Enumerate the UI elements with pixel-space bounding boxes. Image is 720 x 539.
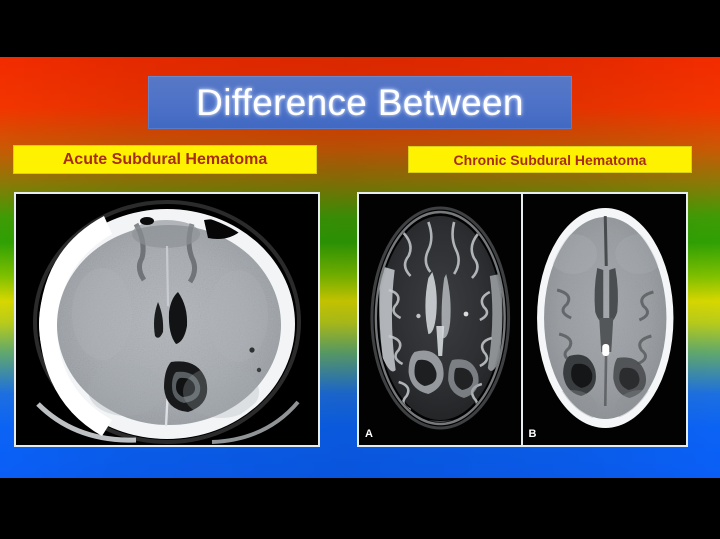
caption-right-label: Chronic Subdural Hematoma <box>454 152 647 168</box>
axial-mri-flair-image <box>359 194 521 445</box>
axial-ct-brain-image <box>523 194 687 445</box>
acute-subdural-ct-image <box>16 194 318 445</box>
caption-left-label: Acute Subdural Hematoma <box>63 151 267 169</box>
title-band: Difference Between <box>148 76 572 129</box>
image-panel-chronic: A <box>357 192 688 447</box>
chronic-sub-image-a: A <box>359 194 523 445</box>
slide-canvas: Difference Between Acute Subdural Hemato… <box>0 0 720 539</box>
page-title: Difference Between <box>196 84 524 121</box>
sub-image-label-b: B <box>529 428 537 440</box>
bottom-letterbox-bar <box>0 478 720 539</box>
chronic-sub-image-b: B <box>523 194 687 445</box>
sub-image-label-a: A <box>365 428 373 440</box>
caption-acute-subdural-hematoma: Acute Subdural Hematoma <box>13 145 317 174</box>
top-letterbox-bar <box>0 0 720 57</box>
image-panel-acute <box>14 192 320 447</box>
caption-chronic-subdural-hematoma: Chronic Subdural Hematoma <box>408 146 692 173</box>
